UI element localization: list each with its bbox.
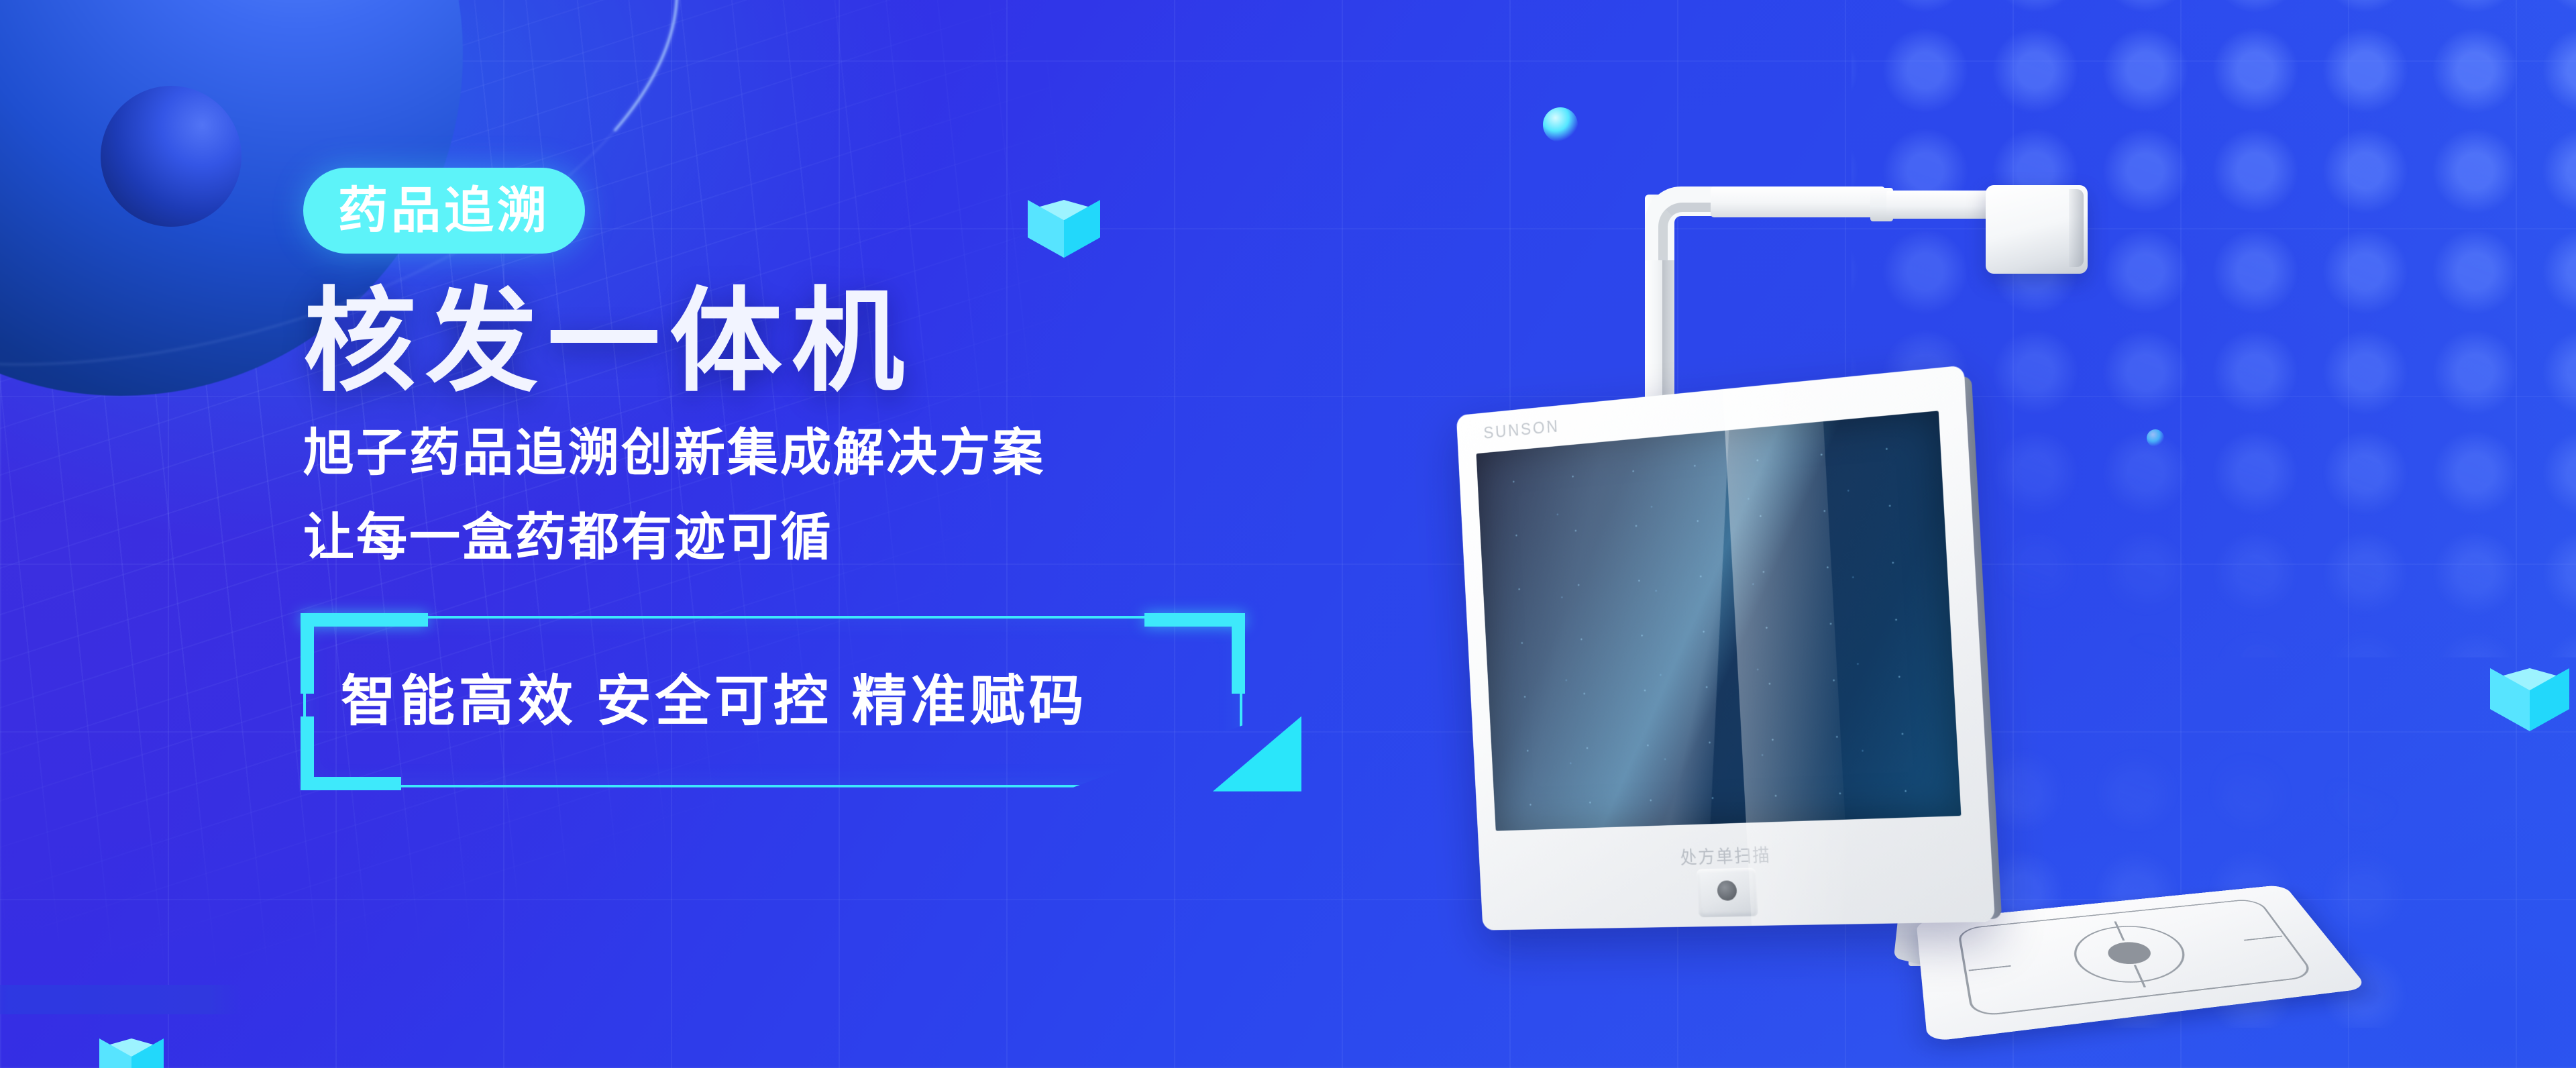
banner-copy-block: 药品追溯 核发一体机 旭子药品追溯创新集成解决方案 让每一盒药都有迹可循 智能高… (303, 168, 1309, 788)
scan-sensor-button (1697, 867, 1759, 917)
glow-dot-icon (1543, 107, 1578, 142)
product-device-illustration: SUNSON 处方单扫描 (1449, 168, 2334, 946)
frame-corner-top-left (301, 613, 428, 627)
monitor-unit: SUNSON 处方单扫描 (1456, 362, 2023, 930)
scanner-arm-post-shadow (1662, 235, 1673, 421)
cyan-cube-icon-bottom (99, 1038, 164, 1068)
accent-bar (0, 985, 241, 1014)
frame-corner-bottom-left (301, 777, 401, 790)
category-badge: 药品追溯 (303, 168, 585, 254)
scanner-arm-horizontal (1711, 186, 1885, 217)
tagline-frame: 智能高效 安全可控 精准赋码 (303, 616, 1242, 788)
device-brand-label: SUNSON (1483, 417, 1560, 443)
camera-lens-icon (1717, 880, 1737, 901)
frame-corner-top-right-vertical (1232, 613, 1245, 694)
frame-corner-bottom-left-vertical (301, 716, 314, 790)
overhead-camera-head (1986, 185, 2088, 274)
monitor-screen (1477, 411, 1962, 831)
monitor-bezel: SUNSON 处方单扫描 (1456, 365, 1995, 930)
screen-glare (1477, 411, 1731, 831)
subtitle-line-1: 旭子药品追溯创新集成解决方案 (303, 421, 1309, 486)
frame-corner-top-right (1144, 613, 1245, 627)
subtitle-line-2: 让每一盒药都有迹可循 (303, 506, 1309, 570)
category-badge-label: 药品追溯 (338, 186, 550, 235)
cyan-cube-icon-right (2490, 668, 2569, 750)
promo-banner: 药品追溯 核发一体机 旭子药品追溯创新集成解决方案 让每一盒药都有迹可循 智能高… (0, 0, 2576, 1068)
frame-corner-top-left-vertical (301, 613, 314, 694)
small-sphere (101, 86, 241, 227)
tagline-text: 智能高效 安全可控 精准赋码 (341, 674, 1088, 729)
page-title: 核发一体机 (303, 282, 1309, 401)
